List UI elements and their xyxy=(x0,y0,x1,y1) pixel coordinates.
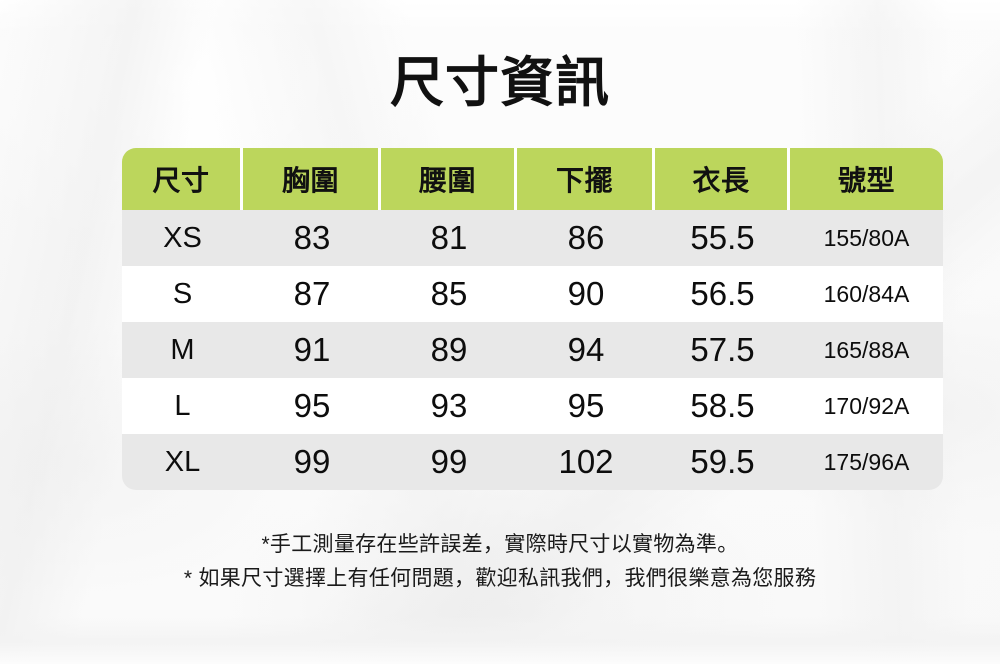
cell-waist: 99 xyxy=(381,434,517,490)
paper-top-highlight xyxy=(0,0,1000,34)
cell-size: XS xyxy=(122,210,243,266)
size-table-wrapper: 尺寸 胸圍 腰圍 下擺 衣長 號型 XS 83 81 86 55.5 155/8… xyxy=(122,148,928,490)
column-header-waist: 腰圍 xyxy=(381,148,517,210)
cell-waist: 89 xyxy=(381,322,517,378)
table-row: S 87 85 90 56.5 160/84A xyxy=(122,266,943,322)
cell-hem: 90 xyxy=(517,266,655,322)
cell-code: 160/84A xyxy=(790,266,943,322)
column-header-size: 尺寸 xyxy=(122,148,243,210)
table-row: XL 99 99 102 59.5 175/96A xyxy=(122,434,943,490)
table-header-row: 尺寸 胸圍 腰圍 下擺 衣長 號型 xyxy=(122,148,943,210)
cell-chest: 99 xyxy=(243,434,381,490)
footnote-measurement-tolerance: *手工測量存在些許誤差，實際時尺寸以實物為準。 xyxy=(0,528,1000,562)
cell-code: 165/88A xyxy=(790,322,943,378)
cell-size: S xyxy=(122,266,243,322)
cell-code: 155/80A xyxy=(790,210,943,266)
size-table: 尺寸 胸圍 腰圍 下擺 衣長 號型 XS 83 81 86 55.5 155/8… xyxy=(122,148,943,490)
cell-waist: 93 xyxy=(381,378,517,434)
column-header-length: 衣長 xyxy=(655,148,790,210)
cell-hem: 95 xyxy=(517,378,655,434)
cell-size: M xyxy=(122,322,243,378)
column-header-chest: 胸圍 xyxy=(243,148,381,210)
cell-chest: 91 xyxy=(243,322,381,378)
size-chart-page: 尺寸資訊 尺寸 胸圍 腰圍 下擺 衣長 號型 XS 83 81 86 xyxy=(0,0,1000,664)
column-header-hem: 下擺 xyxy=(517,148,655,210)
paper-bottom-shade xyxy=(0,616,1000,664)
table-body: XS 83 81 86 55.5 155/80A S 87 85 90 56.5… xyxy=(122,210,943,490)
cell-size: XL xyxy=(122,434,243,490)
cell-length: 55.5 xyxy=(655,210,790,266)
cell-length: 57.5 xyxy=(655,322,790,378)
cell-hem: 86 xyxy=(517,210,655,266)
cell-hem: 102 xyxy=(517,434,655,490)
cell-hem: 94 xyxy=(517,322,655,378)
cell-length: 56.5 xyxy=(655,266,790,322)
cell-waist: 85 xyxy=(381,266,517,322)
cell-code: 170/92A xyxy=(790,378,943,434)
cell-length: 59.5 xyxy=(655,434,790,490)
footnotes: *手工測量存在些許誤差，實際時尺寸以實物為準。 * 如果尺寸選擇上有任何問題，歡… xyxy=(0,528,1000,596)
cell-code: 175/96A xyxy=(790,434,943,490)
cell-length: 58.5 xyxy=(655,378,790,434)
table-row: M 91 89 94 57.5 165/88A xyxy=(122,322,943,378)
table-header: 尺寸 胸圍 腰圍 下擺 衣長 號型 xyxy=(122,148,943,210)
cell-chest: 87 xyxy=(243,266,381,322)
cell-waist: 81 xyxy=(381,210,517,266)
cell-chest: 83 xyxy=(243,210,381,266)
table-row: L 95 93 95 58.5 170/92A xyxy=(122,378,943,434)
cell-size: L xyxy=(122,378,243,434)
table-row: XS 83 81 86 55.5 155/80A xyxy=(122,210,943,266)
column-header-code: 號型 xyxy=(790,148,943,210)
cell-chest: 95 xyxy=(243,378,381,434)
footnote-contact-us: * 如果尺寸選擇上有任何問題，歡迎私訊我們，我們很樂意為您服務 xyxy=(0,562,1000,596)
page-title: 尺寸資訊 xyxy=(0,52,1000,114)
